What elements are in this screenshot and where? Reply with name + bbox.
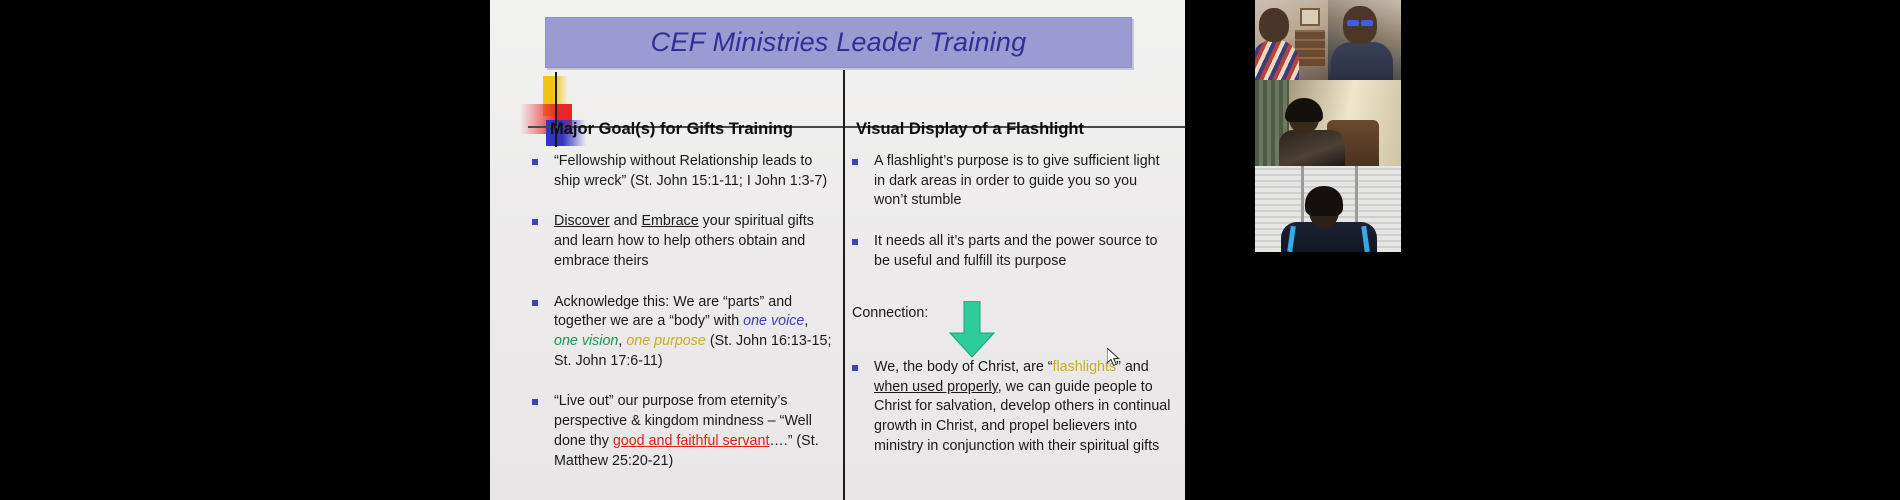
run-text: It needs all it’s parts and the power so…: [874, 233, 1157, 269]
bullet-text: Discover and Embrace your spiritual gift…: [554, 212, 832, 271]
bullet-text: “Fellowship without Relationship leads t…: [554, 152, 832, 191]
bullet-text: We, the body of Christ, are “flashlights…: [874, 358, 1172, 457]
run-text: “Fellowship without Relationship leads t…: [554, 153, 827, 189]
mouse-cursor: [1107, 348, 1121, 368]
run-text: ,: [804, 313, 808, 329]
run-text: A flashlight’s purpose is to give suffic…: [874, 153, 1160, 208]
list-item: Acknowledge this: We are “parts” and tog…: [532, 293, 832, 372]
left-column-heading: Major Goal(s) for Gifts Training: [550, 120, 793, 139]
list-item: Discover and Embrace your spiritual gift…: [532, 212, 832, 271]
slide-title: CEF Ministries Leader Training: [651, 27, 1027, 58]
participant-tile-strip: [1255, 0, 1401, 252]
run-text: and: [610, 213, 642, 229]
participant-torso: [1279, 130, 1345, 166]
bullet-marker-icon: [532, 219, 538, 225]
right-column-closing: We, the body of Christ, are “flashlights…: [852, 358, 1172, 478]
bullet-text: It needs all it’s parts and the power so…: [874, 232, 1172, 271]
bullet-marker-icon: [852, 365, 858, 371]
run-text: We, the body of Christ, are “: [874, 359, 1053, 375]
run-text-one-vision: one vision: [554, 333, 618, 349]
bullet-marker-icon: [852, 239, 858, 245]
bullet-marker-icon: [532, 300, 538, 306]
participant-tile[interactable]: [1255, 80, 1401, 166]
run-text-when-used-properly: when used properly: [874, 379, 998, 395]
connection-block: Connection:: [852, 305, 1172, 323]
bullet-text: “Live out” our purpose from eternity’s p…: [554, 392, 832, 471]
participant-tile[interactable]: [1255, 166, 1401, 252]
screen: CEF Ministries Leader Training Major Goa…: [0, 0, 1900, 500]
bookshelf-decor: [1295, 30, 1325, 66]
connection-label: Connection:: [852, 305, 928, 321]
list-item: We, the body of Christ, are “flashlights…: [852, 358, 1172, 457]
list-item: A flashlight’s purpose is to give suffic…: [852, 152, 1172, 211]
eyeglass-right: [1361, 20, 1373, 26]
left-column-body: “Fellowship without Relationship leads t…: [532, 152, 832, 492]
participant-tile[interactable]: [1255, 0, 1401, 80]
eyeglass-left: [1347, 20, 1359, 26]
list-item: It needs all it’s parts and the power so…: [852, 232, 1172, 271]
bullet-marker-icon: [532, 399, 538, 405]
run-text-one-voice: one voice: [743, 313, 804, 329]
bullet-text: Acknowledge this: We are “parts” and tog…: [554, 293, 832, 372]
list-item: “Fellowship without Relationship leads t…: [532, 152, 832, 191]
picture-frame-decor: [1300, 8, 1320, 26]
run-text-good-and-faithful-servant: good and faithful servant: [613, 433, 770, 449]
right-column-heading: Visual Display of a Flashlight: [856, 120, 1084, 139]
run-text: Discover: [554, 213, 610, 229]
bullet-marker-icon: [532, 159, 538, 165]
participant-hair: [1305, 186, 1343, 216]
run-text: Embrace: [641, 213, 698, 229]
right-column-body: A flashlight’s purpose is to give suffic…: [852, 152, 1172, 293]
slide-title-banner: CEF Ministries Leader Training: [545, 17, 1132, 68]
shared-screen-region[interactable]: CEF Ministries Leader Training Major Goa…: [490, 0, 1185, 500]
down-arrow-icon: [948, 301, 996, 359]
run-text-one-purpose: one purpose: [626, 333, 706, 349]
list-item: “Live out” our purpose from eternity’s p…: [532, 392, 832, 471]
participant-torso: [1255, 40, 1299, 80]
participant-torso: [1331, 42, 1393, 80]
bullet-text: A flashlight’s purpose is to give suffic…: [874, 152, 1172, 211]
column-divider: [843, 70, 845, 500]
presentation-slide: CEF Ministries Leader Training Major Goa…: [490, 0, 1185, 500]
bullet-marker-icon: [852, 159, 858, 165]
participant-head: [1259, 8, 1289, 42]
